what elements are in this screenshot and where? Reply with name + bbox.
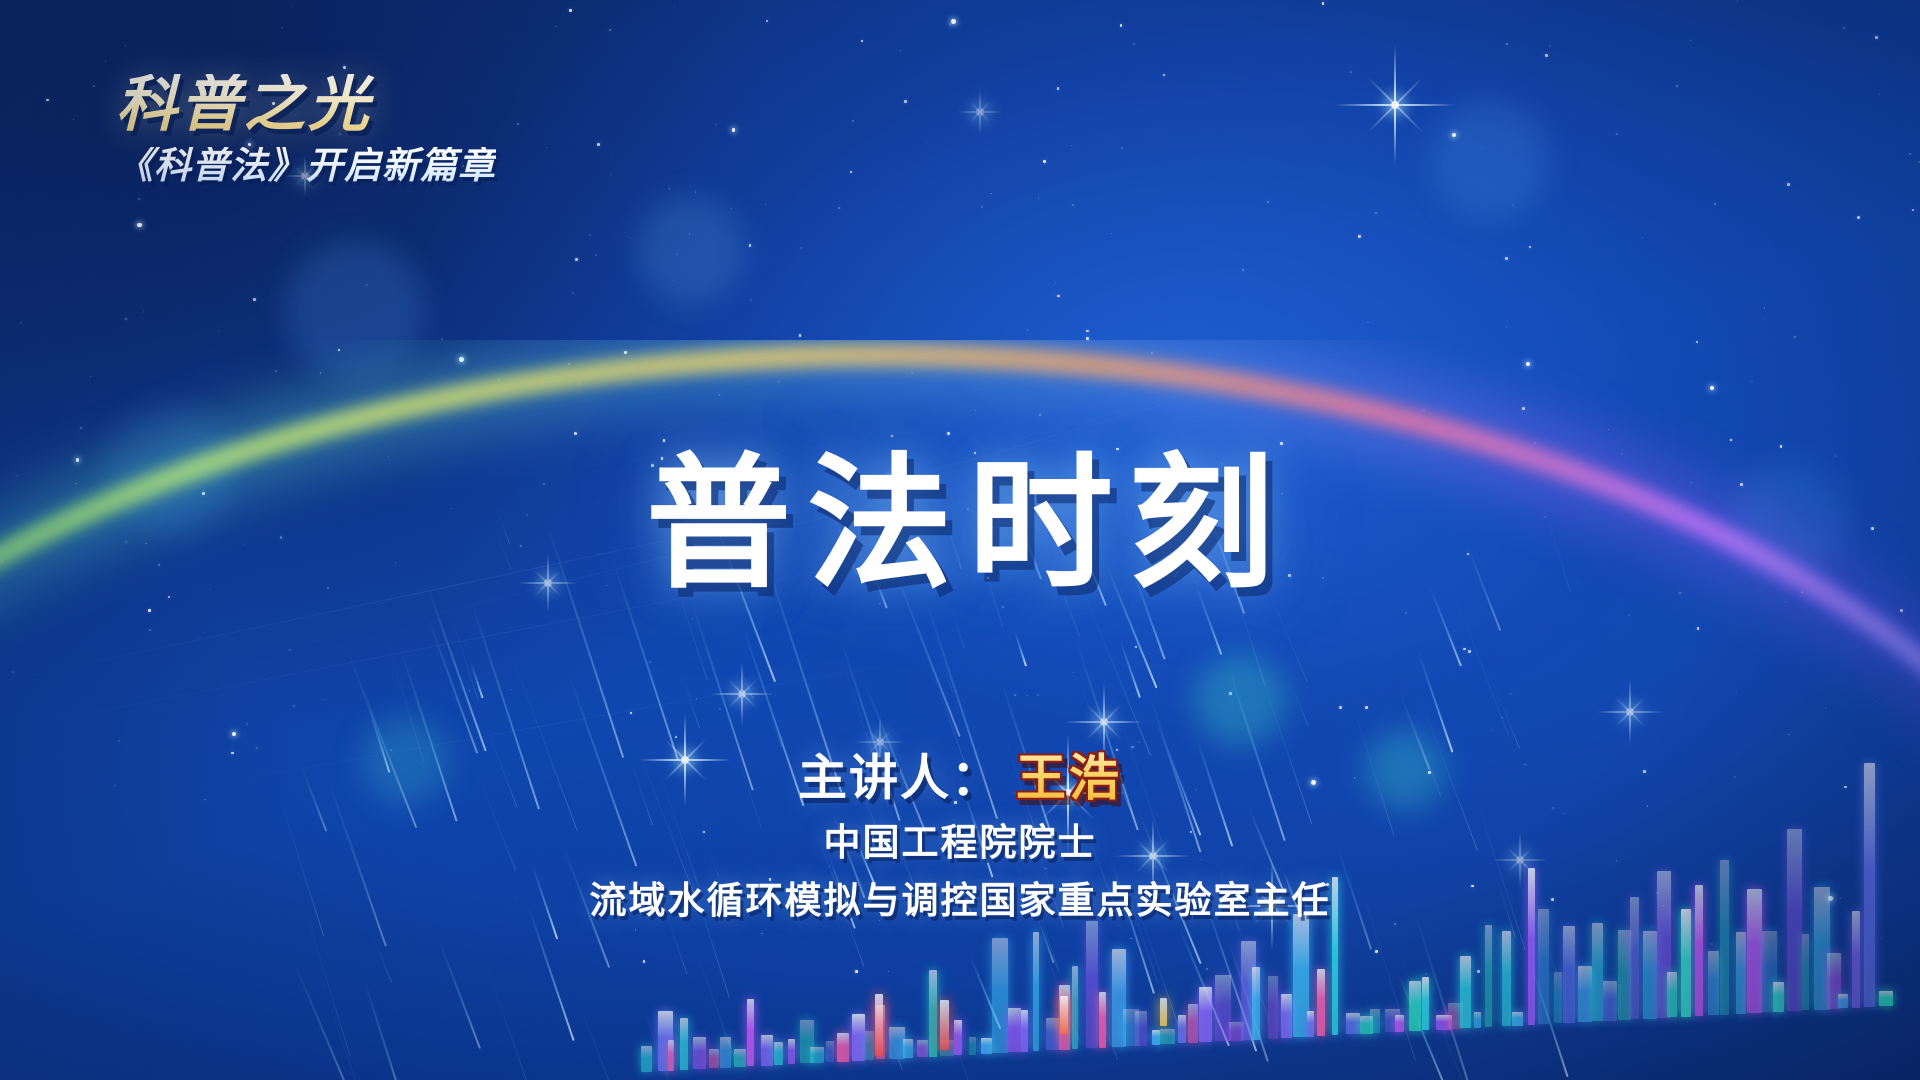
speaker-credential-primary: 中国工程院院士 bbox=[0, 812, 1920, 866]
speaker-row: 主讲人：王浩 bbox=[0, 738, 1920, 810]
speaker-credential-secondary: 流域水循环模拟与调控国家重点实验室主任 bbox=[0, 870, 1920, 924]
main-title-block: 普法时刻 bbox=[0, 452, 1920, 597]
main-title: 普法时刻 bbox=[0, 452, 1920, 597]
brand-title: 科普之光 bbox=[116, 74, 496, 135]
title-card-stage: 科普之光 《科普法》开启新篇章 普法时刻 主讲人：王浩 中国工程院院士 流域水循… bbox=[0, 0, 1920, 1080]
brand-subtitle: 《科普法》开启新篇章 bbox=[116, 147, 496, 184]
speaker-name: 王浩 bbox=[1016, 750, 1122, 806]
speaker-label: 主讲人： bbox=[798, 752, 1002, 806]
brand-block: 科普之光 《科普法》开启新篇章 bbox=[116, 74, 496, 184]
